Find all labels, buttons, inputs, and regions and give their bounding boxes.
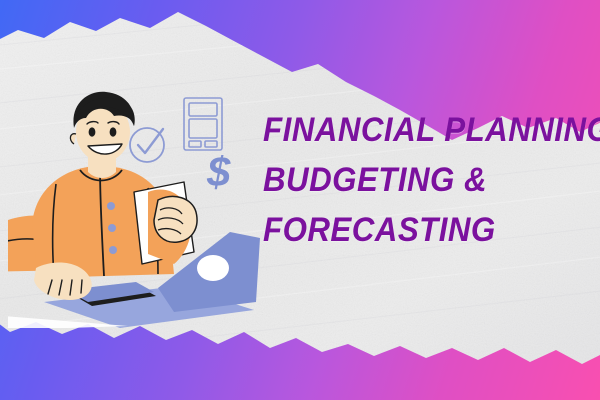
person-working-illustration: $ <box>8 88 268 328</box>
banner-canvas: $ <box>0 0 600 400</box>
laptop-logo <box>197 255 229 281</box>
svg-text:$: $ <box>206 148 231 195</box>
jacket-button <box>107 202 115 210</box>
headline-block: FINANCIAL PLANNING, BUDGETING & FORECAST… <box>263 105 583 255</box>
ear <box>70 134 76 144</box>
right-hand <box>154 196 197 242</box>
headline-line-1: FINANCIAL PLANNING, <box>263 105 557 155</box>
check-circle-icon <box>130 128 164 162</box>
jacket-button <box>109 246 117 254</box>
dollar-sign-icon: $ <box>206 148 231 195</box>
headline-line-3: FORECASTING <box>263 205 557 255</box>
document-wireframe-icon <box>184 98 222 150</box>
eye-left <box>89 127 96 136</box>
jacket-button <box>108 224 116 232</box>
headline-line-2: BUDGETING & <box>263 155 557 205</box>
eye-right <box>110 127 117 136</box>
